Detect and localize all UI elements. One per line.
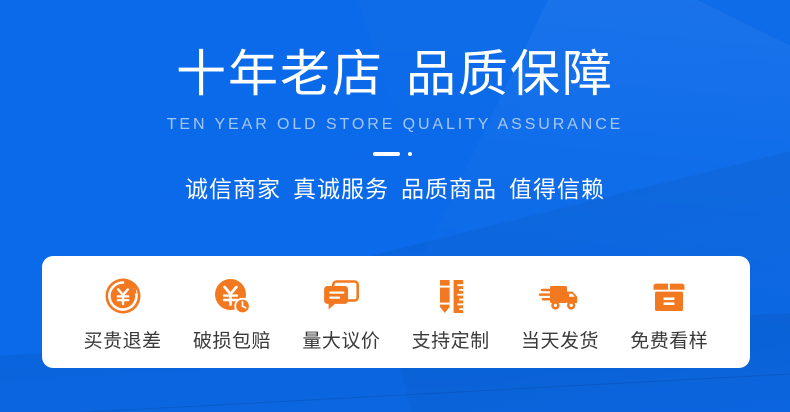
feature-label: 量大议价	[302, 330, 380, 354]
feature-item-damage-compensation[interactable]: 破损包赔	[177, 271, 286, 354]
customization-pencil-ruler-icon	[428, 273, 474, 319]
price-refund-icon	[100, 273, 146, 319]
feature-label: 免费看样	[630, 330, 708, 354]
feature-item-bulk-negotiation[interactable]: 量大议价	[287, 271, 396, 354]
free-sample-box-icon	[646, 273, 692, 319]
features-card: 买贵退差 破损包赔	[42, 256, 750, 368]
divider-ornament	[373, 151, 417, 157]
headline: 十年老店品质保障	[0, 44, 790, 104]
subtitle-cn-part-4: 值得信赖	[509, 176, 605, 202]
bulk-negotiation-chat-icon	[318, 273, 364, 319]
feature-label: 买贵退差	[84, 330, 162, 354]
feature-label: 破损包赔	[193, 330, 271, 354]
feature-item-same-day-shipping[interactable]: 当天发货	[505, 271, 614, 354]
feature-item-free-sample[interactable]: 免费看样	[615, 271, 724, 354]
headline-part-2: 品质保障	[406, 46, 614, 102]
headline-part-1: 十年老店	[176, 46, 384, 102]
background-diagonal-line	[0, 368, 790, 412]
subtitle-chinese: 诚信商家真诚服务品质商品值得信赖	[0, 174, 790, 204]
subtitle-cn-part-1: 诚信商家	[185, 176, 281, 202]
feature-label: 支持定制	[412, 330, 490, 354]
promo-banner: 十年老店品质保障 TEN YEAR OLD STORE QUALITY ASSU…	[0, 0, 790, 412]
subtitle-cn-part-3: 品质商品	[401, 176, 497, 202]
same-day-shipping-truck-icon	[537, 273, 583, 319]
divider-dot	[408, 152, 412, 156]
feature-item-price-refund[interactable]: 买贵退差	[68, 271, 177, 354]
subtitle-cn-part-2: 真诚服务	[293, 176, 389, 202]
divider-bar	[373, 152, 400, 156]
hero-text-block: 十年老店品质保障 TEN YEAR OLD STORE QUALITY ASSU…	[0, 0, 790, 204]
feature-item-customization[interactable]: 支持定制	[396, 271, 505, 354]
damage-compensation-icon	[209, 273, 255, 319]
feature-label: 当天发货	[521, 330, 599, 354]
subtitle-english: TEN YEAR OLD STORE QUALITY ASSURANCE	[0, 115, 790, 135]
